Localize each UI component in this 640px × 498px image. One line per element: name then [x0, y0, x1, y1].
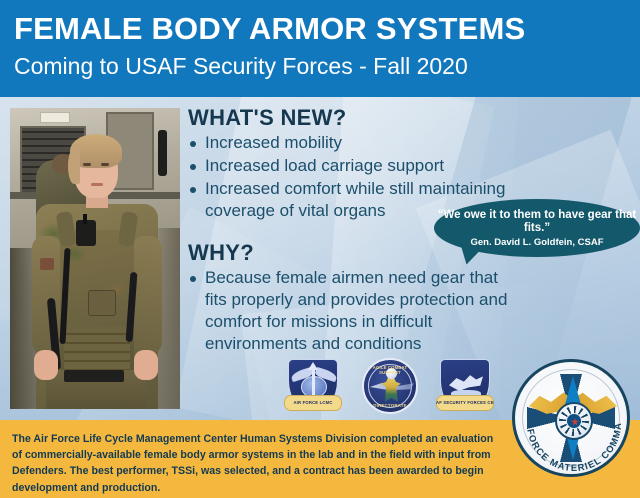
sfc-ribbon: AF SECURITY FORCES CENTER	[436, 395, 494, 411]
whats-new-heading: WHAT'S NEW?	[188, 105, 346, 131]
quote-callout: “We owe it to them to have gear that fit…	[434, 199, 640, 265]
acs-top-text: AGILE COMBAT SUPPORT	[364, 365, 416, 375]
header-banner: FEMALE BODY ARMOR SYSTEMS Coming to USAF…	[0, 0, 640, 97]
lcmc-sword-icon	[312, 365, 315, 399]
photo-post	[158, 130, 167, 176]
why-list: Because female airmen need gear that fit…	[188, 267, 508, 356]
list-item: Increased load carriage support	[188, 155, 540, 177]
sfc-ribbon-text: AF SECURITY FORCES CENTER	[436, 395, 494, 411]
quote-text: “We owe it to them to have gear that fit…	[434, 209, 640, 235]
lcmc-ribbon-text: AIR FORCE LCMC	[284, 395, 342, 411]
afmc-seal-text-path: AIR FORCE MATERIEL COMMAND	[515, 362, 623, 473]
lcmc-ribbon: AIR FORCE LCMC	[284, 395, 342, 411]
photo-mouth	[91, 183, 103, 186]
photo-shoulder-patch	[40, 258, 54, 270]
list-item: Because female airmen need gear that fit…	[188, 267, 508, 355]
afmc-seal-text: AIR FORCE MATERIEL COMMAND	[515, 362, 623, 473]
airman-photo-image	[10, 108, 180, 409]
photo-eye-right	[101, 163, 109, 166]
organization-emblems: AIR FORCE LCMC AGILE COMBAT SUPPORT DIRE…	[288, 359, 498, 417]
lcmc-sword-tip-icon	[308, 362, 318, 370]
photo-arm-right	[132, 236, 162, 354]
photo-duty-belt	[64, 370, 124, 382]
agile-combat-support-directorate-emblem: AGILE COMBAT SUPPORT DIRECTORATE	[362, 358, 418, 414]
photo-wall-sign	[40, 112, 70, 123]
air-force-lcmc-emblem: AIR FORCE LCMC	[288, 359, 338, 411]
photo-hand-left	[34, 350, 58, 380]
list-item: Increased mobility	[188, 132, 540, 154]
af-security-forces-center-emblem: AF SECURITY FORCES CENTER	[440, 359, 490, 411]
page-title: FEMALE BODY ARMOR SYSTEMS	[14, 10, 525, 48]
quote-attribution: Gen. David L. Goldfein, CSAF	[434, 237, 640, 248]
photo-eye-left	[83, 163, 91, 166]
footer-text: The Air Force Life Cycle Management Cent…	[12, 431, 502, 496]
afmc-curved-text: AIR FORCE MATERIEL COMMAND	[515, 362, 630, 477]
airman-photo	[10, 108, 180, 409]
acs-bottom-text: DIRECTORATE	[364, 403, 416, 408]
photo-hair-side	[68, 148, 80, 184]
photo-vest-pouch	[88, 290, 116, 316]
air-force-materiel-command-seal: AIR FORCE MATERIEL COMMAND	[512, 359, 630, 477]
quote-bubble: “We owe it to them to have gear that fit…	[434, 199, 640, 257]
why-heading: WHY?	[188, 240, 254, 266]
photo-radio-antenna	[83, 214, 87, 224]
infographic-poster: FEMALE BODY ARMOR SYSTEMS Coming to USAF…	[0, 0, 640, 498]
photo-hand-right	[134, 350, 158, 380]
page-subtitle: Coming to USAF Security Forces - Fall 20…	[14, 52, 468, 80]
